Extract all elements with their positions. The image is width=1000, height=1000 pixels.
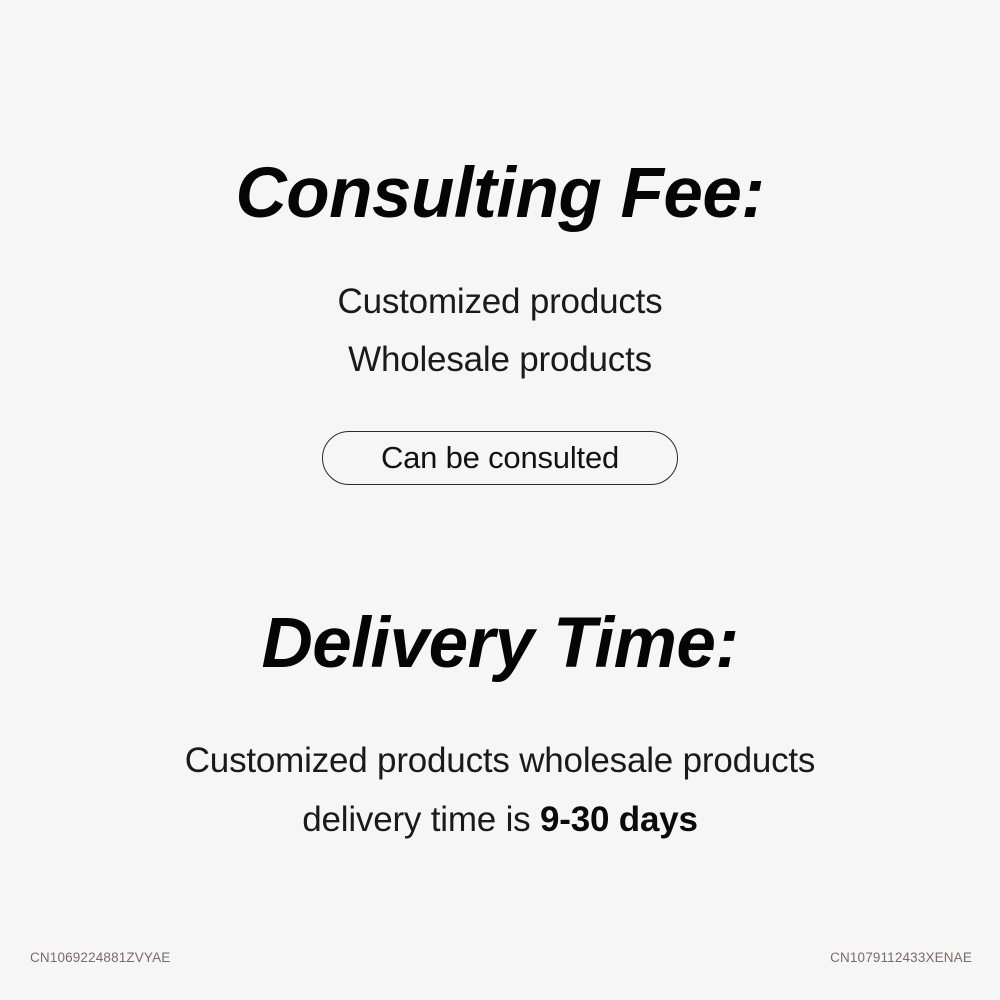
- delivery-line-products: Customized products wholesale products: [0, 731, 1000, 790]
- footer-codes: CN1069224881ZVYAE CN1079112433XENAE: [0, 950, 1000, 980]
- delivery-duration-prefix: delivery time is: [302, 800, 540, 839]
- delivery-time-section: Delivery Time: Customized products whole…: [0, 608, 1000, 849]
- consulting-fee-heading: Consulting Fee:: [0, 158, 1000, 229]
- product-code-left: CN1069224881ZVYAE: [30, 950, 170, 965]
- consulting-line-wholesale: Wholesale products: [0, 331, 1000, 389]
- consulting-line-customized: Customized products: [0, 273, 1000, 331]
- product-info-card: Consulting Fee: Customized products Whol…: [0, 0, 1000, 1000]
- consulting-pill-wrapper: Can be consulted: [0, 431, 1000, 485]
- delivery-duration-value: 9-30 days: [540, 800, 698, 839]
- consulting-fee-body: Customized products Wholesale products: [0, 273, 1000, 389]
- consulting-fee-section: Consulting Fee: Customized products Whol…: [0, 158, 1000, 485]
- delivery-time-body: Customized products wholesale products d…: [0, 731, 1000, 849]
- delivery-time-heading: Delivery Time:: [0, 608, 1000, 679]
- product-code-right: CN1079112433XENAE: [830, 950, 972, 965]
- can-be-consulted-button[interactable]: Can be consulted: [322, 431, 678, 485]
- delivery-line-duration: delivery time is 9-30 days: [0, 790, 1000, 849]
